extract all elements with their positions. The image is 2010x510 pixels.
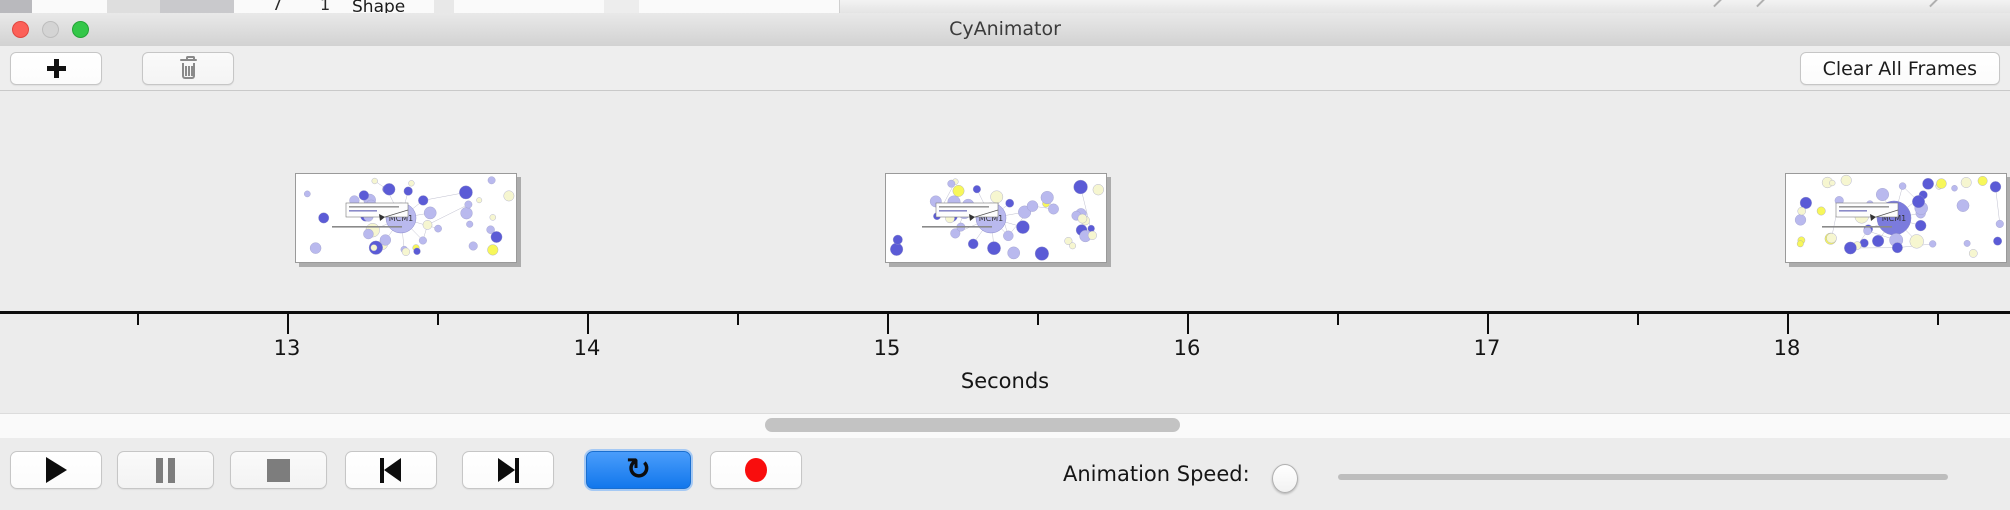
- play-icon: [46, 457, 67, 483]
- loop-button[interactable]: ↻: [586, 451, 691, 489]
- axis-tick-minor: [437, 314, 439, 325]
- axis-tick-minor: [1637, 314, 1639, 325]
- animation-speed-label: Animation Speed:: [1063, 462, 1250, 486]
- axis-tick-major: [887, 314, 889, 334]
- cyanimator-window: 7 1 Shape CyAnimator Clear All Frames: [0, 0, 2010, 510]
- bg-slash: [1713, 0, 1724, 7]
- bg-segment: [0, 0, 33, 13]
- bg-slash: [1756, 0, 1767, 7]
- axis-title: Seconds: [0, 369, 2010, 393]
- bg-window-label: Shape: [352, 0, 405, 13]
- axis-tick-minor: [737, 314, 739, 325]
- animation-speed-slider-thumb[interactable]: [1272, 464, 1298, 493]
- axis-tick-minor: [1037, 314, 1039, 325]
- bg-segment: [107, 0, 161, 13]
- timeline-panel[interactable]: MCM1MCM1MCM1 Seconds 12131415161718: [0, 91, 2010, 411]
- bg-glyph: 1: [320, 0, 330, 13]
- pause-icon: [156, 458, 175, 483]
- frame-thumbnail[interactable]: MCM1: [295, 173, 517, 263]
- record-button[interactable]: [710, 451, 802, 489]
- timeline-axis: [0, 311, 2010, 314]
- trash-icon: [180, 59, 197, 79]
- axis-tick-minor: [137, 314, 139, 325]
- axis-tick-major: [1787, 314, 1789, 334]
- axis-tick-major: [1487, 314, 1489, 334]
- step-forward-button[interactable]: [462, 451, 554, 489]
- plus-icon: [47, 59, 66, 78]
- clear-all-frames-button[interactable]: Clear All Frames: [1800, 52, 2000, 85]
- frame-thumbnail[interactable]: MCM1: [885, 173, 1107, 263]
- step-back-button[interactable]: [345, 451, 437, 489]
- delete-frame-button[interactable]: [142, 52, 234, 85]
- axis-tick-label: 13: [274, 336, 301, 360]
- axis-tick-minor: [1937, 314, 1939, 325]
- skip-next-icon: [497, 458, 519, 483]
- axis-tick-minor: [1337, 314, 1339, 325]
- loop-icon: ↻: [626, 455, 651, 485]
- stop-button: [230, 451, 327, 489]
- bg-segment: [160, 0, 235, 13]
- axis-tick-major: [1187, 314, 1189, 334]
- frame-thumbnails: MCM1MCM1MCM1: [0, 91, 2010, 311]
- playback-controls: Animation Speed: ↻: [0, 438, 2010, 510]
- axis-tick-label: 16: [1174, 336, 1201, 360]
- bg-segment: [454, 0, 605, 13]
- background-window-strip: 7 1 Shape: [0, 0, 2010, 13]
- bg-segment: [434, 0, 455, 13]
- bg-segment: [32, 0, 108, 13]
- title-bar[interactable]: CyAnimator: [0, 13, 2010, 47]
- stop-icon: [267, 459, 290, 482]
- axis-tick-major: [587, 314, 589, 334]
- window-title: CyAnimator: [0, 13, 2010, 46]
- bg-segment: [639, 0, 840, 13]
- animation-speed-slider[interactable]: [1338, 474, 1948, 480]
- bg-glyph: 7: [272, 0, 282, 13]
- axis-tick-label: 15: [874, 336, 901, 360]
- axis-tick-label: 14: [574, 336, 601, 360]
- axis-tick-label: 18: [1774, 336, 1801, 360]
- skip-previous-icon: [380, 458, 402, 483]
- play-button[interactable]: [10, 451, 102, 489]
- pause-button: [117, 451, 214, 489]
- scrollbar-thumb[interactable]: [765, 418, 1180, 432]
- bg-slash: [1929, 0, 1940, 7]
- axis-tick-major: [287, 314, 289, 334]
- timeline-scrollbar[interactable]: [0, 413, 2010, 439]
- record-icon: [745, 458, 767, 482]
- add-frame-button[interactable]: [10, 52, 102, 85]
- frame-thumbnail[interactable]: MCM1: [1785, 173, 2007, 263]
- toolbar: Clear All Frames: [0, 46, 2010, 91]
- bg-segment: [604, 0, 640, 13]
- axis-tick-label: 17: [1474, 336, 1501, 360]
